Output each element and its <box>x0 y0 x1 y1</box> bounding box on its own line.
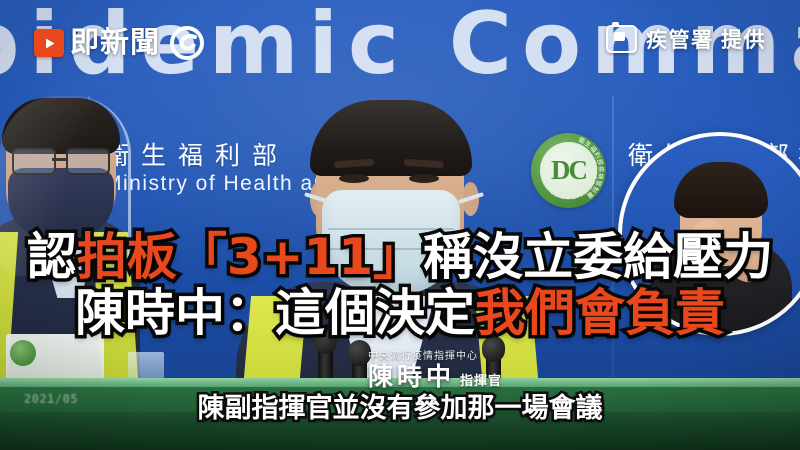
headline-line-1-segment-0: 認 <box>27 232 77 282</box>
headline-line-2-segment-1: 我們會負責 <box>475 288 725 338</box>
headline-line-2-segment-0: 陳時中：這個決定 <box>75 288 475 338</box>
headline-line-1-segment-2: 稱沒立委給壓力 <box>423 232 773 282</box>
speaker-nameplate: 中央流行疫情指揮中心 陳時中 指揮官 <box>368 352 502 390</box>
cdc-emblem-inner: DC <box>540 142 597 199</box>
play-icon <box>34 29 64 57</box>
source-badge: 疾管署 提供 <box>606 24 766 54</box>
headline-line-2: 陳時中：這個決定我們會負責 <box>0 288 800 338</box>
desk-placard-logo-icon <box>10 340 36 366</box>
video-camera-icon <box>606 25 637 53</box>
nameplate-organization: 中央流行疫情指揮中心 <box>368 352 502 362</box>
cdc-emblem: 衛生福利部疾病管制署 Centers for Disease Control D… <box>531 133 606 208</box>
channel-name: 即新聞 <box>70 29 160 58</box>
headline-overlay: 認拍板「3+11」稱沒立委給壓力 陳時中：這個決定我們會負責 <box>0 232 800 338</box>
headline-line-1: 認拍板「3+11」稱沒立委給壓力 <box>0 232 800 282</box>
cdc-emblem-monogram: DC <box>540 142 597 199</box>
subtitle-caption: 陳副指揮官並沒有參加那一場會議 <box>0 386 800 425</box>
backdrop-ministry-cn: 衛生福利部 <box>104 136 289 172</box>
headline-line-1-segment-1: 拍板「3+11」 <box>77 232 423 282</box>
swirl-logo-icon <box>170 26 204 60</box>
source-label: 疾管署 提供 <box>646 24 766 54</box>
broadcast-screenshot: pidemic Comman 衛生福利部 Ministry of Health … <box>0 0 800 450</box>
channel-logo[interactable]: 即新聞 <box>34 26 204 60</box>
